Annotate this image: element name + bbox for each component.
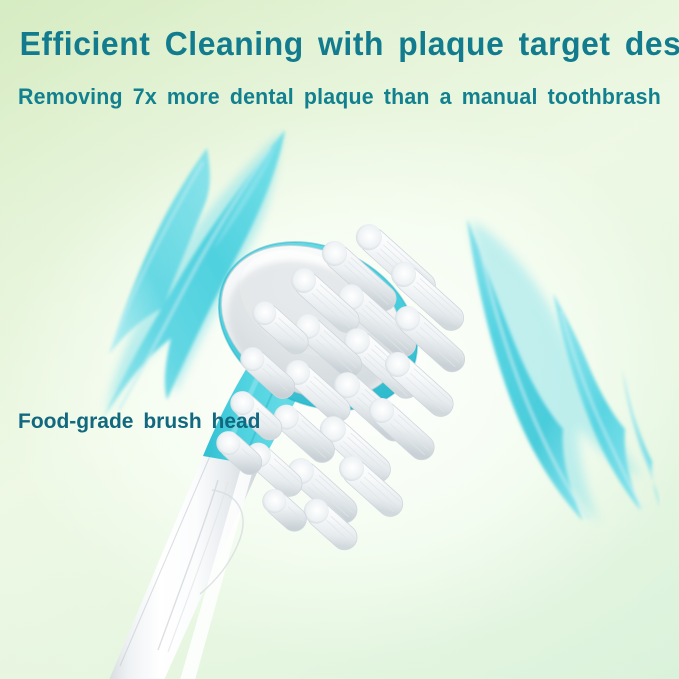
page-subtitle: Removing 7x more dental plaque than a ma… xyxy=(18,83,661,111)
brush-handle xyxy=(109,456,260,679)
product-feature-banner: Efficient Cleaning with plaque target de… xyxy=(0,0,679,679)
subheadline-block: Removing 7x more dental plaque than a ma… xyxy=(0,83,679,111)
headline-block: Efficient Cleaning with plaque target de… xyxy=(0,24,679,64)
callout-food-grade-brush-head: Food-grade brush head xyxy=(18,408,261,436)
page-title: Efficient Cleaning with plaque target de… xyxy=(20,24,660,64)
